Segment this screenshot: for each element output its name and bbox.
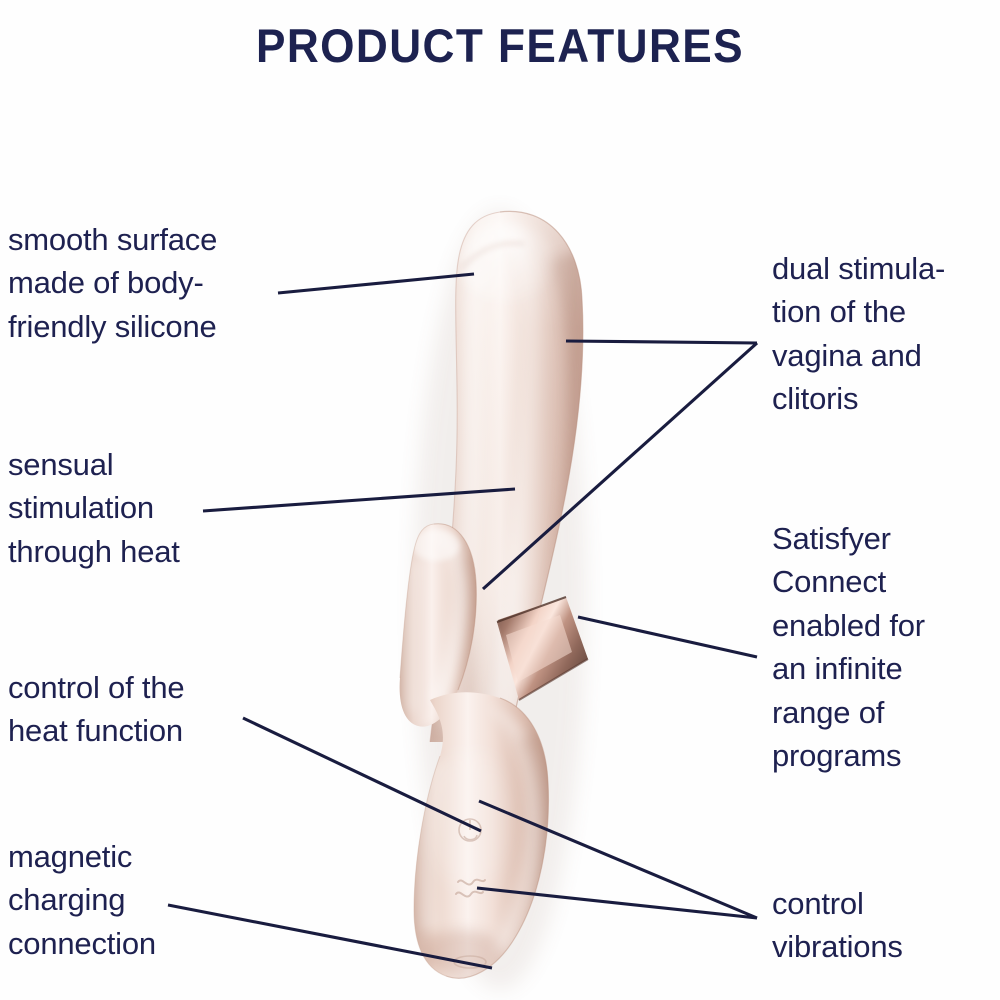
callout-label-satisfyer-connect: Satisfyer Connect enabled for an infinit…: [772, 517, 1000, 777]
page-title: PRODUCT FEATURES: [30, 18, 970, 73]
callout-label-dual-stimulation: dual stimula- tion of the vagina and cli…: [772, 247, 1000, 421]
callout-label-smooth-surface: smooth surface made of body- friendly si…: [8, 218, 308, 348]
callout-label-control-vibrations: control vibrations: [772, 882, 1000, 969]
infographic-canvas: PRODUCT FEATURES smooth surface made of …: [0, 0, 1000, 1000]
callout-label-magnetic-charge: magnetic charging connection: [8, 835, 288, 965]
callout-label-heat-control: control of the heat function: [8, 666, 308, 753]
callout-label-sensual-heat: sensual stimulation through heat: [8, 443, 298, 573]
